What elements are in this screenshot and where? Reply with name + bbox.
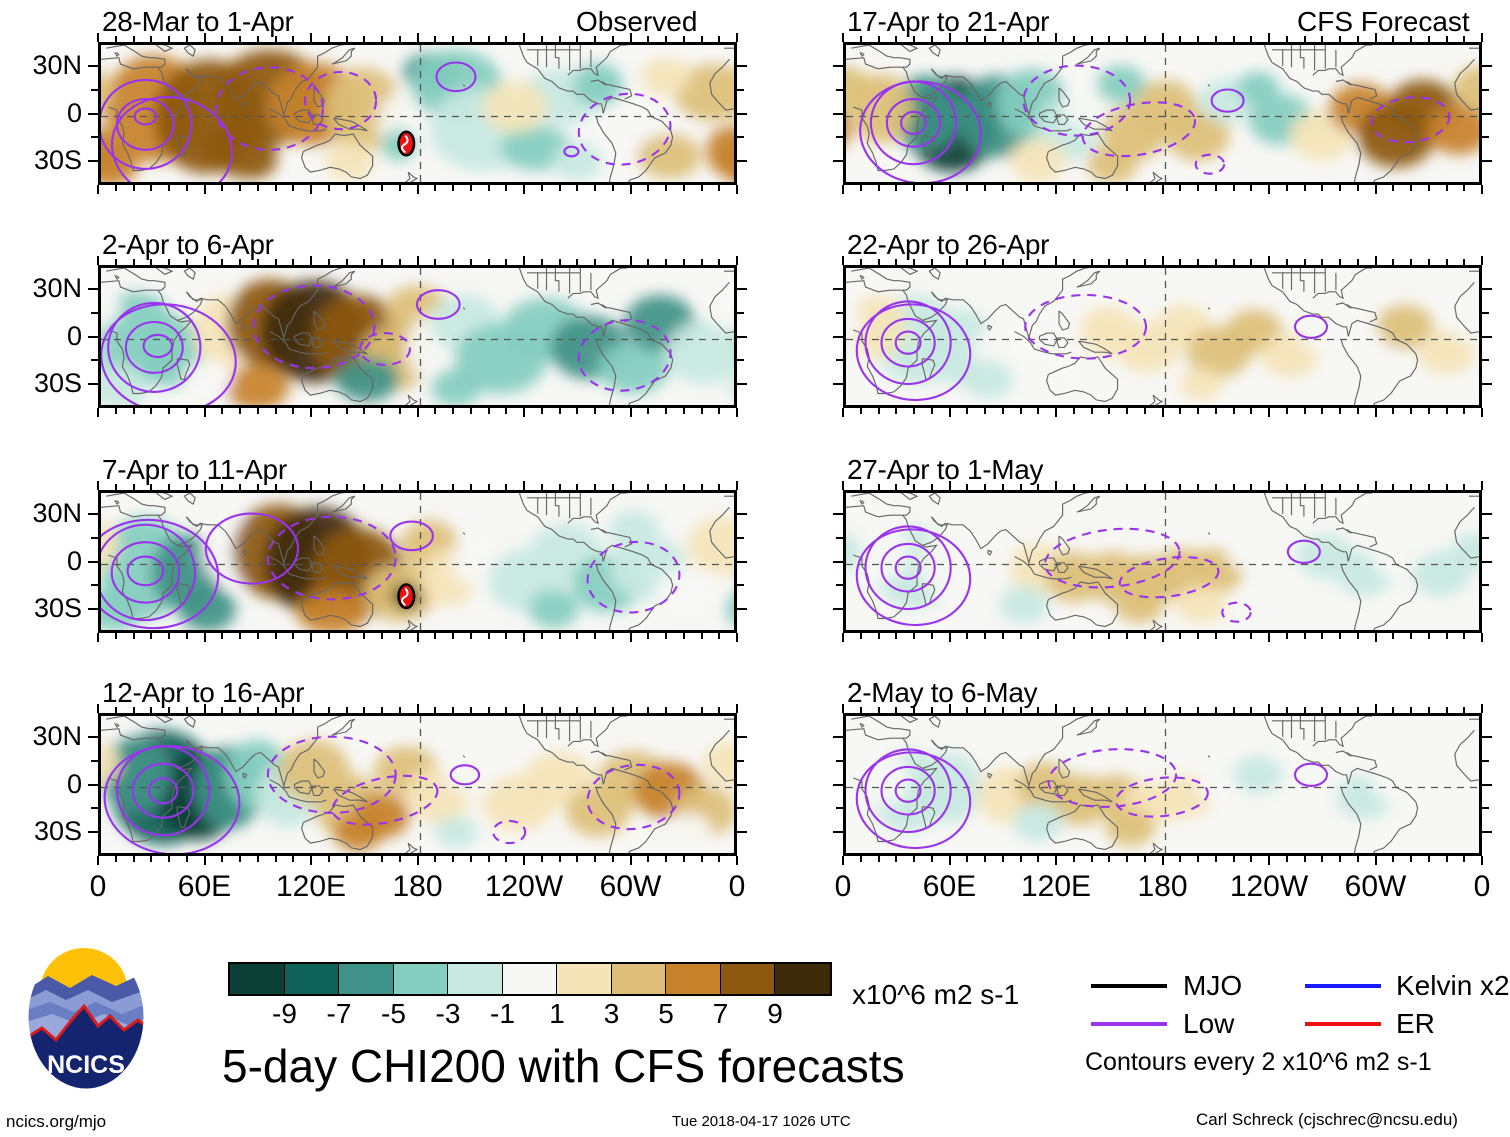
y-tick <box>1482 736 1492 738</box>
x-tick <box>150 633 152 639</box>
x-tick <box>1268 256 1270 265</box>
x-tick <box>150 707 152 713</box>
x-tick <box>257 633 259 639</box>
x-tick <box>683 707 685 713</box>
x-tick <box>488 185 490 191</box>
x-tick <box>186 633 188 639</box>
x-tick <box>1268 704 1270 713</box>
colorbar-units-label: x10^6 m2 s-1 <box>852 981 1019 1009</box>
x-tick <box>1339 633 1341 639</box>
x-tick <box>1233 633 1235 639</box>
x-tick <box>150 856 152 862</box>
x-tick <box>913 856 915 862</box>
x-tick <box>665 259 667 265</box>
x-tick <box>470 36 472 42</box>
y-tick <box>91 89 98 91</box>
x-tick <box>1162 33 1164 42</box>
x-tick <box>1091 484 1093 490</box>
y-tick <box>1482 561 1492 563</box>
x-tick <box>718 185 720 191</box>
x-tick <box>1428 185 1430 191</box>
colorbar-cell-1 <box>285 964 340 994</box>
x-tick <box>984 408 986 414</box>
x-tick <box>647 259 649 265</box>
y-tick <box>833 736 843 738</box>
x-tick <box>949 33 951 42</box>
x-tick <box>1144 707 1146 713</box>
y-tick <box>88 831 98 833</box>
x-tick <box>984 185 986 191</box>
x-tick <box>452 707 454 713</box>
x-tick <box>683 259 685 265</box>
x-tick <box>1108 856 1110 862</box>
x-tick <box>1304 36 1306 42</box>
x-tick <box>505 185 507 191</box>
x-tick <box>842 33 844 42</box>
y-tick <box>737 760 744 762</box>
x-tick <box>381 856 383 862</box>
x-tick <box>1339 856 1341 862</box>
x-tick <box>1463 707 1465 713</box>
x-tick <box>1250 185 1252 191</box>
x-tick <box>1304 707 1306 713</box>
x-tick <box>1321 707 1323 713</box>
y-tick <box>836 312 843 314</box>
x-tick <box>292 633 294 639</box>
x-tick <box>594 484 596 490</box>
y-tick <box>737 831 747 833</box>
x-tick <box>683 408 685 414</box>
x-tick <box>1126 36 1128 42</box>
x-tick <box>931 707 933 713</box>
x-tick <box>239 408 241 414</box>
x-tick <box>1144 856 1146 862</box>
x-tick <box>417 185 419 194</box>
y-tick <box>833 336 843 338</box>
x-tick <box>1481 185 1483 194</box>
x-tick <box>1055 33 1057 42</box>
x-tick <box>665 856 667 862</box>
x-tick <box>328 484 330 490</box>
x-tick <box>275 484 277 490</box>
x-tick <box>488 259 490 265</box>
x-tick <box>1037 259 1039 265</box>
x-tick <box>736 408 738 417</box>
x-tick <box>1073 633 1075 639</box>
x-tick <box>878 856 880 862</box>
x-tick <box>1126 185 1128 191</box>
x-tick <box>204 256 206 265</box>
x-tick <box>1144 633 1146 639</box>
x-tick <box>860 185 862 191</box>
panel-title-observed-3: 7-Apr to 11-Apr <box>102 456 287 484</box>
x-tick <box>1108 36 1110 42</box>
x-tick <box>913 707 915 713</box>
x-tick <box>1481 856 1483 865</box>
y-tick <box>836 807 843 809</box>
y-tick <box>833 113 843 115</box>
x-tick <box>1321 408 1323 414</box>
x-tick <box>1375 481 1377 490</box>
x-tick <box>505 484 507 490</box>
x-tick <box>257 484 259 490</box>
colorbar-tick-label: 9 <box>767 1000 783 1028</box>
x-tick <box>895 856 897 862</box>
y-tick <box>88 513 98 515</box>
x-tick <box>683 484 685 490</box>
x-tick <box>346 707 348 713</box>
x-tick <box>541 259 543 265</box>
x-tick <box>1233 185 1235 191</box>
x-tick <box>1250 259 1252 265</box>
y-tick <box>833 65 843 67</box>
x-tick <box>630 856 632 865</box>
x-tick <box>1375 33 1377 42</box>
x-tick <box>895 36 897 42</box>
x-tick <box>1357 633 1359 639</box>
x-tick <box>1091 856 1093 862</box>
x-tick <box>310 408 312 417</box>
x-tick <box>1481 33 1483 42</box>
x-tick <box>842 633 844 642</box>
x-tick <box>1286 856 1288 862</box>
x-tick <box>701 259 703 265</box>
y-tick <box>836 584 843 586</box>
colorbar-cell-4 <box>448 964 503 994</box>
x-tick <box>1428 707 1430 713</box>
x-tick <box>1037 707 1039 713</box>
y-tick <box>737 561 747 563</box>
x-tick <box>363 633 365 639</box>
x-tick <box>1392 707 1394 713</box>
x-tick <box>434 484 436 490</box>
x-tick <box>452 408 454 414</box>
x-tick <box>221 408 223 414</box>
y-tick <box>1482 608 1492 610</box>
x-tick <box>381 259 383 265</box>
x-tick <box>1197 408 1199 414</box>
y-axis-label: 30N <box>0 723 82 750</box>
x-tick <box>1321 185 1323 191</box>
x-tick <box>417 481 419 490</box>
x-tick <box>1321 856 1323 862</box>
footer-site-link[interactable]: ncics.org/mjo <box>6 1113 106 1130</box>
x-tick <box>1215 856 1217 862</box>
footer-author: Carl Schreck (cjschrec@ncsu.edu) <box>1196 1112 1458 1127</box>
y-tick <box>1482 807 1489 809</box>
x-tick <box>505 633 507 639</box>
x-tick <box>1073 484 1075 490</box>
x-tick <box>1446 408 1448 414</box>
x-tick <box>860 707 862 713</box>
x-tick <box>434 408 436 414</box>
x-axis-tick-label: 120W <box>485 872 563 902</box>
x-tick <box>842 185 844 194</box>
y-tick <box>88 736 98 738</box>
colorbar-tick-label: -7 <box>327 1000 352 1028</box>
x-tick <box>665 707 667 713</box>
x-tick <box>1215 633 1217 639</box>
x-tick <box>1392 185 1394 191</box>
x-tick <box>310 33 312 42</box>
x-tick <box>576 707 578 713</box>
x-tick <box>1286 36 1288 42</box>
panel-title-forecast-4: 2-May to 6-May <box>847 679 1037 707</box>
x-axis-tick-label: 0 <box>835 872 852 902</box>
x-tick <box>1410 185 1412 191</box>
x-tick <box>966 484 968 490</box>
x-tick <box>1321 484 1323 490</box>
x-tick <box>363 259 365 265</box>
y-axis-label: 30S <box>0 595 82 622</box>
x-tick <box>381 484 383 490</box>
x-tick <box>1410 856 1412 862</box>
x-tick <box>168 259 170 265</box>
x-tick <box>913 185 915 191</box>
y-tick <box>737 584 744 586</box>
colorbar-cell-3 <box>394 964 449 994</box>
y-tick <box>737 383 747 385</box>
x-tick <box>1073 36 1075 42</box>
x-tick <box>541 484 543 490</box>
x-tick <box>683 36 685 42</box>
x-tick <box>505 259 507 265</box>
x-tick <box>878 484 880 490</box>
x-tick <box>417 704 419 713</box>
x-tick <box>488 633 490 639</box>
x-tick <box>1197 259 1199 265</box>
x-tick <box>594 185 596 191</box>
column-label-observed: Observed <box>576 8 697 36</box>
x-tick <box>966 36 968 42</box>
x-tick <box>168 856 170 862</box>
x-tick <box>701 36 703 42</box>
x-tick <box>1073 707 1075 713</box>
y-tick <box>91 359 98 361</box>
x-tick <box>665 185 667 191</box>
x-tick <box>399 259 401 265</box>
x-tick <box>1463 856 1465 862</box>
x-tick <box>168 408 170 414</box>
x-tick <box>328 259 330 265</box>
ncics-logo[interactable]: NCICS <box>26 942 146 1092</box>
x-tick <box>381 707 383 713</box>
x-tick <box>1339 707 1341 713</box>
x-tick <box>168 633 170 639</box>
x-axis-tick-label: 60E <box>923 872 976 902</box>
y-tick <box>833 160 843 162</box>
x-tick <box>860 484 862 490</box>
x-tick <box>133 633 135 639</box>
x-tick <box>647 185 649 191</box>
y-tick <box>91 760 98 762</box>
y-axis-label: 30S <box>0 818 82 845</box>
x-tick <box>1215 484 1217 490</box>
x-tick <box>168 707 170 713</box>
x-tick <box>115 259 117 265</box>
y-tick <box>1482 831 1492 833</box>
x-tick <box>576 408 578 414</box>
x-tick <box>931 185 933 191</box>
x-tick <box>559 185 561 191</box>
x-tick <box>239 707 241 713</box>
x-tick <box>505 36 507 42</box>
x-tick <box>1091 408 1093 414</box>
x-axis-tick-label: 0 <box>90 872 107 902</box>
x-tick <box>1002 185 1004 191</box>
x-tick <box>470 185 472 191</box>
x-tick <box>257 36 259 42</box>
x-tick <box>523 481 525 490</box>
x-tick <box>541 856 543 862</box>
x-tick <box>1055 185 1057 194</box>
x-tick <box>913 484 915 490</box>
x-tick <box>470 408 472 414</box>
ncics-logo-text: NCICS <box>47 1051 125 1079</box>
x-tick <box>1375 256 1377 265</box>
x-tick <box>292 36 294 42</box>
x-tick <box>1073 185 1075 191</box>
y-tick <box>737 784 747 786</box>
x-tick <box>630 185 632 194</box>
x-tick <box>878 408 880 414</box>
y-tick <box>737 113 747 115</box>
legend-label-kelvin: Kelvin x2 <box>1396 972 1510 1000</box>
x-axis-tick-label: 180 <box>392 872 442 902</box>
x-tick <box>470 633 472 639</box>
x-tick <box>860 633 862 639</box>
x-tick <box>292 484 294 490</box>
x-tick <box>1410 259 1412 265</box>
x-tick <box>913 633 915 639</box>
x-tick <box>1428 484 1430 490</box>
x-tick <box>1268 856 1270 865</box>
x-tick <box>1162 408 1164 417</box>
y-tick <box>737 65 747 67</box>
x-tick <box>878 36 880 42</box>
x-tick <box>221 633 223 639</box>
x-axis-tick-label: 120E <box>1021 872 1091 902</box>
x-tick <box>168 185 170 191</box>
x-tick <box>470 707 472 713</box>
x-tick <box>488 36 490 42</box>
x-tick <box>1286 408 1288 414</box>
ncics-logo-svg: NCICS <box>26 942 146 1092</box>
x-tick <box>417 408 419 417</box>
legend-label-er: ER <box>1396 1010 1435 1038</box>
x-tick <box>665 408 667 414</box>
y-tick <box>737 136 744 138</box>
x-tick <box>1357 856 1359 862</box>
colorbar-cell-0 <box>230 964 285 994</box>
x-tick <box>1162 185 1164 194</box>
y-tick <box>88 784 98 786</box>
x-tick <box>1126 484 1128 490</box>
panel-title-observed-1: 28-Mar to 1-Apr <box>102 8 294 36</box>
x-tick <box>115 36 117 42</box>
x-tick <box>541 408 543 414</box>
x-tick <box>541 36 543 42</box>
y-tick <box>88 336 98 338</box>
x-tick <box>630 633 632 642</box>
x-tick <box>1037 36 1039 42</box>
x-tick <box>1197 633 1199 639</box>
x-tick <box>1002 633 1004 639</box>
x-tick <box>1215 408 1217 414</box>
x-tick <box>1037 633 1039 639</box>
x-tick <box>239 36 241 42</box>
x-tick <box>594 856 596 862</box>
x-tick <box>363 36 365 42</box>
x-tick <box>257 408 259 414</box>
x-tick <box>576 36 578 42</box>
x-tick <box>984 36 986 42</box>
x-tick <box>1020 707 1022 713</box>
x-tick <box>1375 856 1377 865</box>
x-tick <box>133 408 135 414</box>
x-tick <box>559 36 561 42</box>
x-tick <box>328 185 330 191</box>
x-tick <box>701 185 703 191</box>
x-tick <box>239 856 241 862</box>
x-tick <box>931 36 933 42</box>
y-axis-label: 0 <box>0 323 82 350</box>
colorbar-cell-7 <box>612 964 667 994</box>
x-tick <box>1463 633 1465 639</box>
x-tick <box>434 856 436 862</box>
x-tick <box>1446 484 1448 490</box>
x-tick <box>221 185 223 191</box>
x-tick <box>523 256 525 265</box>
x-tick <box>701 484 703 490</box>
x-tick <box>913 259 915 265</box>
x-tick <box>1020 633 1022 639</box>
x-tick <box>1126 633 1128 639</box>
x-tick <box>1428 633 1430 639</box>
x-tick <box>842 856 844 865</box>
x-axis-tick-label: 60E <box>178 872 231 902</box>
x-axis-tick-label: 120E <box>276 872 346 902</box>
x-tick <box>612 856 614 862</box>
x-tick <box>1073 856 1075 862</box>
x-tick <box>1126 707 1128 713</box>
x-tick <box>1446 633 1448 639</box>
x-tick <box>328 633 330 639</box>
x-tick <box>1055 481 1057 490</box>
x-tick <box>363 707 365 713</box>
x-tick <box>452 856 454 862</box>
x-tick <box>1020 36 1022 42</box>
x-tick <box>488 484 490 490</box>
x-tick <box>1197 185 1199 191</box>
x-tick <box>630 408 632 417</box>
x-tick <box>949 256 951 265</box>
x-tick <box>1250 484 1252 490</box>
x-tick <box>346 185 348 191</box>
x-tick <box>310 856 312 865</box>
x-tick <box>1179 185 1181 191</box>
x-tick <box>1162 856 1164 865</box>
y-axis-label: 0 <box>0 771 82 798</box>
colorbar-cell-8 <box>666 964 721 994</box>
x-tick <box>523 856 525 865</box>
x-tick <box>204 185 206 194</box>
x-tick <box>133 707 135 713</box>
x-tick <box>150 36 152 42</box>
x-tick <box>1304 259 1306 265</box>
x-tick <box>97 185 99 194</box>
y-axis-label: 30N <box>0 275 82 302</box>
